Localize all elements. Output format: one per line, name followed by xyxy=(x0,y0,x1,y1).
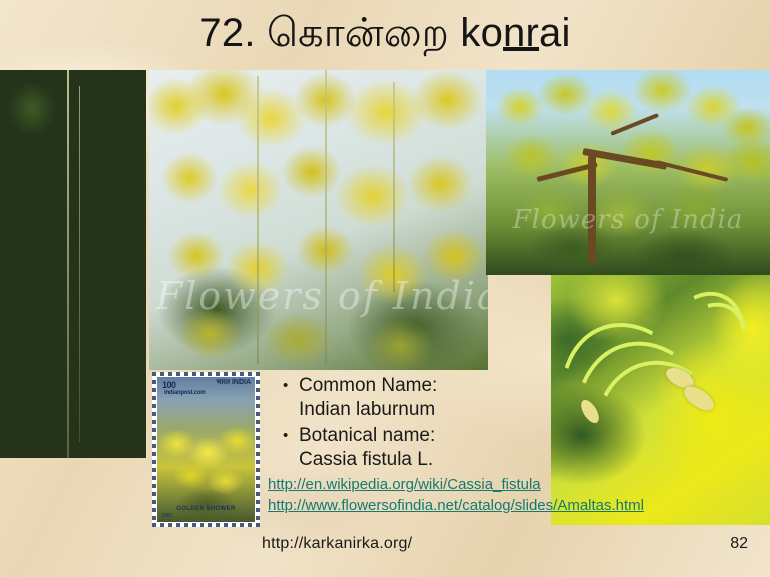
golden-shower-cluster-photo: Flowers of India xyxy=(149,70,488,370)
flower-stem xyxy=(257,76,259,364)
title-translit-post: ai xyxy=(539,11,571,55)
stamp-caption-sub: 1981 xyxy=(161,513,172,519)
stamp-artwork: 100 भारत INDIA indianpost.com GOLDEN SHO… xyxy=(157,377,255,522)
stamp-caption: GOLDEN SHOWER xyxy=(157,506,255,512)
title-translit-pre: ko xyxy=(460,11,503,55)
botanical-name-label: Botanical name: xyxy=(299,425,435,446)
stamp-issuer: भारत INDIA xyxy=(216,379,251,387)
bullet-marker-icon: • xyxy=(268,424,299,448)
bullet-item-common-name: • Common Name: Indian laburnum xyxy=(268,374,550,422)
tree-branch xyxy=(656,160,729,182)
title-number: 72. xyxy=(199,11,255,55)
title-tamil: கொன்றை xyxy=(267,11,449,55)
flower-stem xyxy=(393,82,395,292)
anther xyxy=(681,382,719,415)
botanical-name-value: Cassia fistula L. xyxy=(299,448,435,472)
stamen-filament xyxy=(553,322,746,525)
stamen-filament xyxy=(551,300,739,525)
stamp-face-value: 100 xyxy=(162,380,176,390)
flowers-of-india-watermark: Flowers of India xyxy=(156,274,481,318)
flowersofindia-link[interactable]: http://www.flowersofindia.net/catalog/sl… xyxy=(268,495,550,516)
bullet-item-botanical-name: • Botanical name: Cassia fistula L. xyxy=(268,424,550,472)
tree-branch xyxy=(610,112,659,135)
bullet-content: Common Name: Indian laburnum xyxy=(299,374,437,422)
presentation-slide: 72. கொன்றை konrai Flowers of India Flowe… xyxy=(0,0,770,577)
common-name-label: Common Name: xyxy=(299,375,437,396)
pendulous-raceme-photo xyxy=(0,70,146,458)
title-translit-marked-r: r xyxy=(526,11,540,55)
tree-trunk xyxy=(588,156,596,263)
flowers-of-india-watermark: Flowers of India xyxy=(492,205,765,235)
slide-page-number: 82 xyxy=(730,534,748,554)
stamen-filament xyxy=(655,288,762,400)
slide-title: 72. கொன்றை konrai xyxy=(0,2,770,64)
flower-stem xyxy=(325,70,327,364)
reference-link-list: http://en.wikipedia.org/wiki/Cassia_fist… xyxy=(268,474,550,516)
flowering-tree-photo: Flowers of India xyxy=(486,70,770,275)
stamp-site-name: indianpost.com xyxy=(164,390,206,396)
stamen-macro-photo xyxy=(551,275,770,525)
title-transliteration: konrai xyxy=(460,11,570,55)
anther xyxy=(578,397,603,426)
title-translit-marked-n: n xyxy=(503,11,525,55)
bullet-marker-icon: • xyxy=(268,374,299,398)
india-golden-shower-postage-stamp: 100 भारत INDIA indianpost.com GOLDEN SHO… xyxy=(152,372,260,527)
bullet-content: Botanical name: Cassia fistula L. xyxy=(299,424,435,472)
footer-source-url: http://karkanirka.org/ xyxy=(262,534,412,554)
wikipedia-link[interactable]: http://en.wikipedia.org/wiki/Cassia_fist… xyxy=(268,474,550,495)
description-text-block: • Common Name: Indian laburnum • Botanic… xyxy=(268,374,550,516)
common-name-value: Indian laburnum xyxy=(299,398,437,422)
